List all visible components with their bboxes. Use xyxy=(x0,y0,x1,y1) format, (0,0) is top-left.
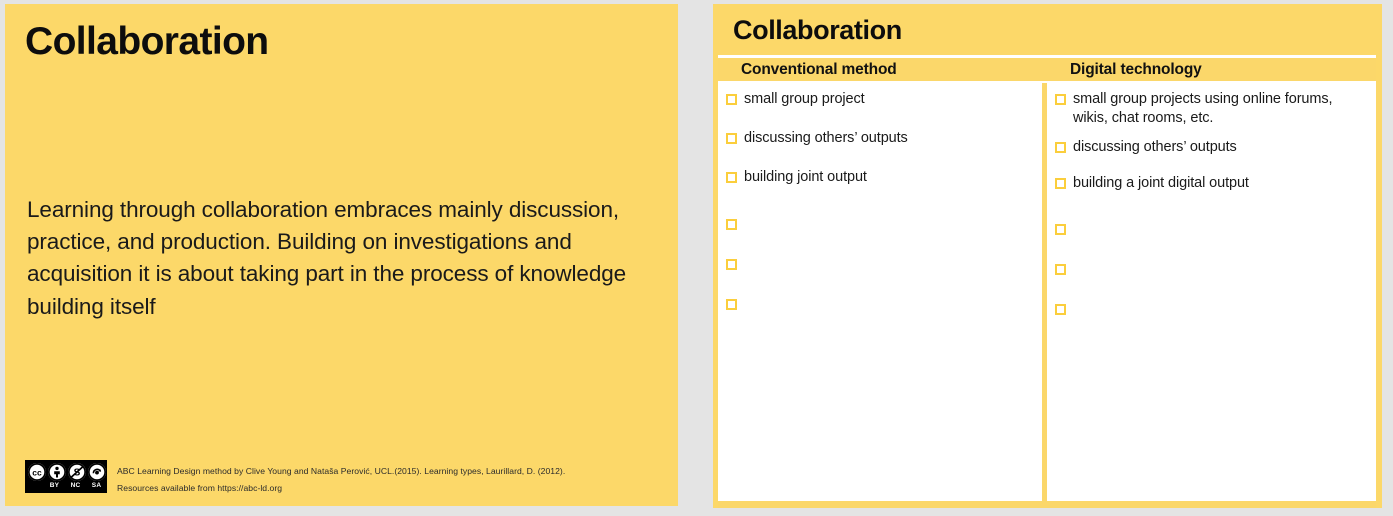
attribution-line-2: Resources available from https://abc-ld.… xyxy=(117,480,565,497)
license-label-sa: SA xyxy=(88,482,105,490)
column-body-conventional: small group project discussing others’ o… xyxy=(718,83,1047,508)
collaboration-slide-panel: Collaboration Learning through collabora… xyxy=(5,4,678,506)
checkbox-icon[interactable] xyxy=(726,259,737,270)
list-item-label: discussing others’ outputs xyxy=(1073,138,1237,157)
column-body-digital: small group projects using online forums… xyxy=(1047,83,1376,508)
list-item-label: building a joint digital output xyxy=(1073,174,1249,193)
list-item[interactable]: building joint output xyxy=(726,168,1034,190)
column-header-digital: Digital technology xyxy=(1047,55,1376,83)
slide-footer: cc S xyxy=(25,459,565,497)
list-item-empty[interactable] xyxy=(1055,220,1368,242)
checkbox-icon[interactable] xyxy=(1055,264,1066,275)
page-right-margin xyxy=(1382,0,1393,516)
checkbox-icon[interactable] xyxy=(726,219,737,230)
list-item-empty[interactable] xyxy=(1055,260,1368,282)
slide-canvas: Collaboration Learning through collabora… xyxy=(0,0,1393,516)
list-item[interactable]: building a joint digital output xyxy=(1055,174,1368,196)
column-header-label: Conventional method xyxy=(741,61,897,79)
list-item-label: small group projects using online forums… xyxy=(1073,90,1368,127)
checkbox-icon[interactable] xyxy=(1055,304,1066,315)
column-header-label: Digital technology xyxy=(1070,61,1202,79)
table-title: Collaboration xyxy=(733,16,902,46)
column-header-conventional: Conventional method xyxy=(718,55,1047,83)
list-item[interactable]: small group project xyxy=(726,90,1034,112)
creative-commons-by-nc-sa-badge: cc S xyxy=(25,460,107,493)
by-person-icon xyxy=(48,463,66,481)
slide-title: Collaboration xyxy=(25,20,269,64)
slide-body-text: Learning through collaboration embraces … xyxy=(27,194,661,323)
list-item-empty[interactable] xyxy=(1055,300,1368,322)
list-item-label: building joint output xyxy=(744,168,867,187)
sa-share-alike-icon xyxy=(88,463,106,481)
collaboration-table-panel: Collaboration Conventional method small … xyxy=(713,4,1382,508)
list-item-label: discussing others’ outputs xyxy=(744,129,908,148)
list-item-empty[interactable] xyxy=(726,295,1034,317)
attribution-text-block: ABC Learning Design method by Clive Youn… xyxy=(117,459,565,497)
checkbox-icon[interactable] xyxy=(726,172,737,183)
checkbox-icon[interactable] xyxy=(726,299,737,310)
license-label-row: BY NC SA xyxy=(46,482,106,490)
list-item-empty[interactable] xyxy=(726,255,1034,277)
checkbox-icon[interactable] xyxy=(726,133,737,144)
table-columns: Conventional method small group project … xyxy=(713,55,1382,508)
list-item[interactable]: small group projects using online forums… xyxy=(1055,90,1368,127)
checkbox-icon[interactable] xyxy=(1055,94,1066,105)
list-item-empty[interactable] xyxy=(726,215,1034,237)
nc-no-dollar-icon: S xyxy=(68,463,86,481)
attribution-line-1: ABC Learning Design method by Clive Youn… xyxy=(117,463,565,480)
list-item-label: small group project xyxy=(744,90,865,109)
cc-icon: cc xyxy=(28,463,46,481)
license-label-nc: NC xyxy=(67,482,84,490)
list-item[interactable]: discussing others’ outputs xyxy=(1055,138,1368,160)
column-conventional-method: Conventional method small group project … xyxy=(713,55,1047,508)
license-icon-row: cc S xyxy=(28,463,106,481)
list-item[interactable]: discussing others’ outputs xyxy=(726,129,1034,151)
checkbox-icon[interactable] xyxy=(726,94,737,105)
checkbox-icon[interactable] xyxy=(1055,224,1066,235)
license-label-by: BY xyxy=(46,482,63,490)
svg-text:cc: cc xyxy=(32,467,42,477)
checkbox-icon[interactable] xyxy=(1055,178,1066,189)
checkbox-icon[interactable] xyxy=(1055,142,1066,153)
column-digital-technology: Digital technology small group projects … xyxy=(1047,55,1382,508)
